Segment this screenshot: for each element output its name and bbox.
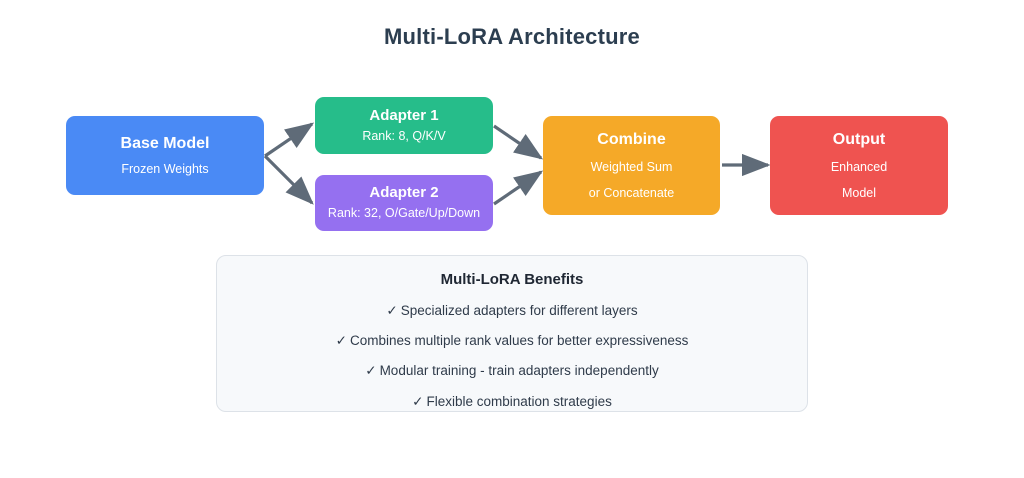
node-combine-title: Combine	[597, 130, 665, 149]
node-adapter-1-title: Adapter 1	[369, 107, 438, 125]
benefits-list: ✓Specialized adapters for different laye…	[217, 303, 807, 410]
diagram-canvas: Multi-LoRA Architecture Base Model Froze…	[0, 0, 1024, 478]
node-adapter-2-title: Adapter 2	[369, 184, 438, 202]
benefits-panel: Multi-LoRA Benefits ✓Specialized adapter…	[216, 255, 808, 412]
node-output-subtitle-2: Model	[842, 186, 876, 202]
benefit-item-label: Modular training - train adapters indepe…	[380, 363, 659, 378]
node-adapter-1-subtitle: Rank: 8, Q/K/V	[362, 129, 445, 145]
benefit-item-label: Flexible combination strategies	[426, 394, 611, 409]
node-output-title: Output	[833, 130, 885, 149]
node-combine-subtitle-1: Weighted Sum	[591, 160, 673, 176]
edge-adapter2-to-combine	[494, 172, 541, 204]
node-output-subtitle-1: Enhanced	[831, 160, 887, 176]
node-adapter-2[interactable]: Adapter 2 Rank: 32, O/Gate/Up/Down	[315, 175, 493, 231]
benefit-item: ✓Modular training - train adapters indep…	[365, 363, 658, 379]
check-icon: ✓	[386, 303, 397, 318]
node-adapter-2-subtitle: Rank: 32, O/Gate/Up/Down	[328, 206, 480, 222]
benefit-item-label: Combines multiple rank values for better…	[350, 333, 688, 348]
edge-base-to-adapter1	[265, 124, 312, 156]
node-combine-subtitle-2: or Concatenate	[589, 186, 674, 202]
node-adapter-1[interactable]: Adapter 1 Rank: 8, Q/K/V	[315, 97, 493, 154]
benefit-item: ✓Flexible combination strategies	[412, 394, 612, 410]
node-combine[interactable]: Combine Weighted Sum or Concatenate	[543, 116, 720, 215]
page-title: Multi-LoRA Architecture	[0, 24, 1024, 50]
check-icon: ✓	[412, 394, 423, 409]
edge-adapter1-to-combine	[494, 126, 541, 158]
node-output[interactable]: Output Enhanced Model	[770, 116, 948, 215]
check-icon: ✓	[365, 363, 376, 378]
node-base-model-subtitle: Frozen Weights	[121, 162, 208, 178]
check-icon: ✓	[336, 333, 347, 348]
benefit-item: ✓Combines multiple rank values for bette…	[336, 333, 689, 349]
benefit-item: ✓Specialized adapters for different laye…	[386, 303, 637, 319]
node-base-model[interactable]: Base Model Frozen Weights	[66, 116, 264, 195]
node-base-model-title: Base Model	[121, 134, 210, 153]
benefit-item-label: Specialized adapters for different layer…	[401, 303, 638, 318]
edge-base-to-adapter2	[265, 156, 312, 203]
benefits-panel-title: Multi-LoRA Benefits	[441, 271, 584, 288]
